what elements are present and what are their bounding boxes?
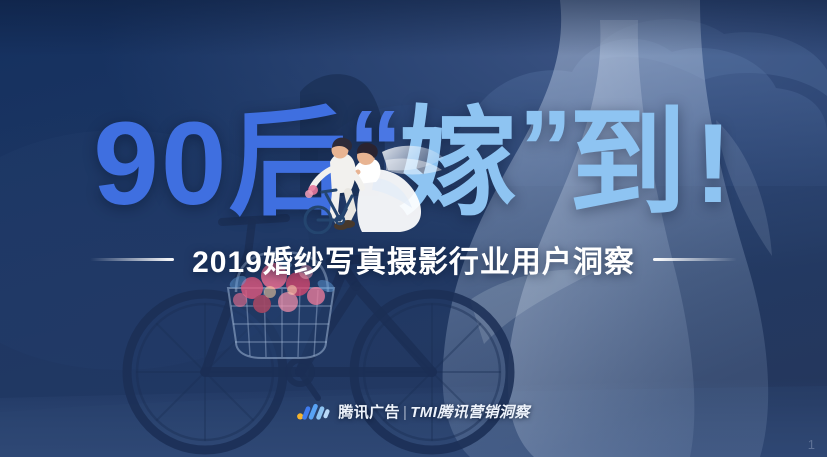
brand-separator: | bbox=[403, 404, 407, 421]
page-number: 1 bbox=[808, 438, 815, 451]
footer-branding: 腾讯广告|TMI腾讯营销洞察 bbox=[0, 398, 827, 424]
subtitle-text: 2019婚纱写真摄影行业用户洞察 bbox=[192, 237, 635, 281]
brand-lockup: 腾讯广告|TMI腾讯营销洞察 bbox=[338, 401, 529, 422]
subtitle-rule-left bbox=[90, 258, 174, 261]
brand-primary: 腾讯广告 bbox=[338, 404, 400, 421]
brand-secondary: TMI腾讯营销洞察 bbox=[410, 404, 529, 421]
subtitle-row: 2019婚纱写真摄影行业用户洞察 bbox=[0, 238, 827, 280]
title-slide: 90 后 “ 嫁 ” 到 ! bbox=[0, 0, 827, 457]
tencent-ads-logo-icon bbox=[297, 401, 331, 421]
background-illustration bbox=[0, 0, 827, 457]
subtitle-rule-right bbox=[653, 258, 737, 261]
